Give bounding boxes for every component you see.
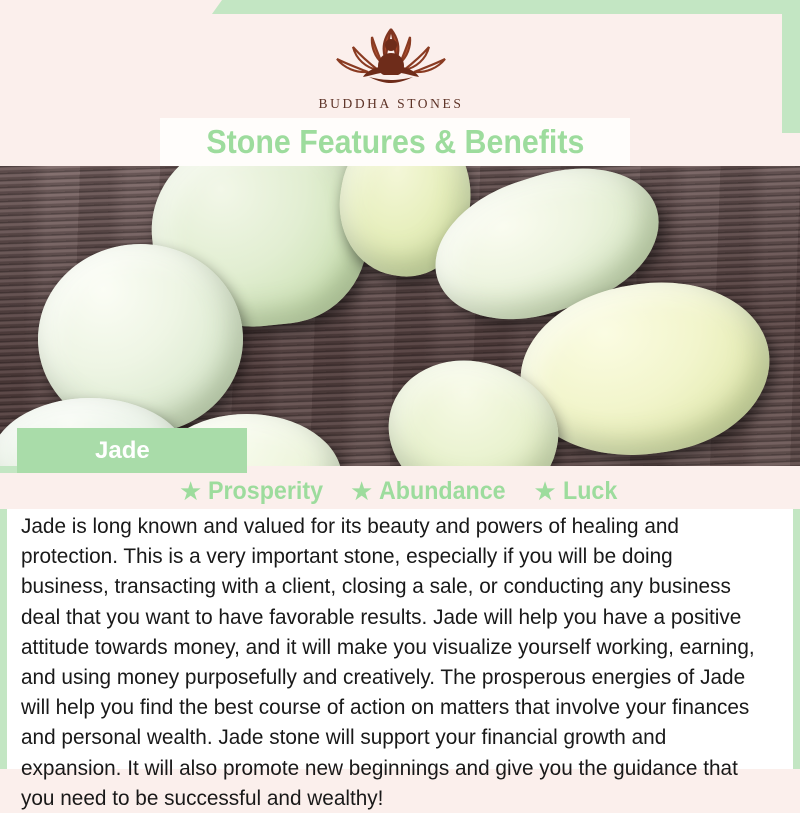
star-icon: ★ bbox=[179, 478, 202, 504]
decorative-strip-text-left bbox=[0, 505, 7, 773]
benefit-label: Luck bbox=[563, 477, 617, 506]
decorative-strip-right bbox=[782, 0, 800, 133]
benefit-item: ★ Prosperity bbox=[179, 477, 332, 506]
logo-block: BUDDHA STONES bbox=[319, 21, 464, 112]
benefit-item: ★ Abundance bbox=[350, 477, 515, 506]
page-title: Stone Features & Benefits bbox=[206, 123, 584, 161]
stone-name-label: Jade bbox=[95, 437, 150, 465]
stone-photo bbox=[0, 166, 800, 466]
stone-name-band: Jade bbox=[17, 428, 247, 473]
benefit-label: Abundance bbox=[379, 477, 506, 506]
benefits-row: ★ Prosperity ★ Abundance ★ Luck bbox=[0, 473, 800, 509]
lotus-meditation-icon bbox=[325, 21, 457, 93]
star-icon: ★ bbox=[350, 478, 373, 504]
star-icon: ★ bbox=[533, 478, 556, 504]
brand-name: BUDDHA STONES bbox=[319, 96, 464, 112]
description-text: Jade is long known and valued for its be… bbox=[21, 511, 760, 813]
decorative-band-top-right bbox=[212, 0, 800, 14]
title-band: Stone Features & Benefits bbox=[160, 118, 630, 166]
benefit-label: Prosperity bbox=[208, 477, 323, 506]
brand-header: BUDDHA STONES bbox=[0, 14, 782, 118]
benefit-item: ★ Luck bbox=[533, 477, 621, 506]
description-card: Jade is long known and valued for its be… bbox=[7, 509, 793, 769]
decorative-strip-text-right bbox=[793, 505, 800, 773]
